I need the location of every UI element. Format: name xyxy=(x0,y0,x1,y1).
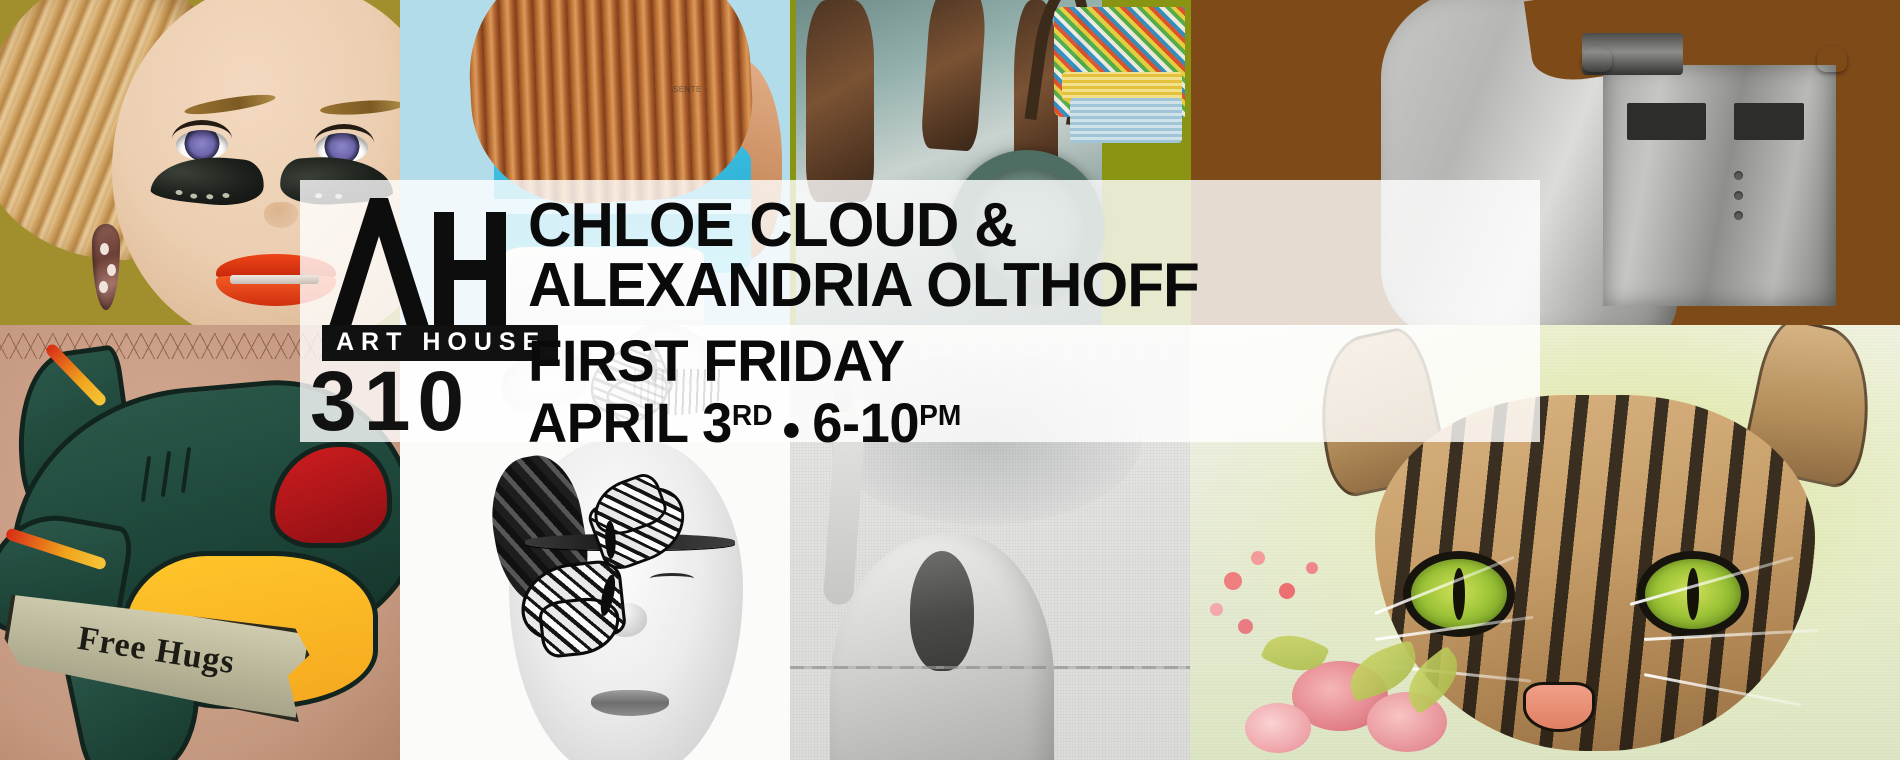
free-hugs-banner-text: Free Hugs xyxy=(75,620,238,682)
event-time-meridiem: PM xyxy=(919,402,961,431)
portrait-nose xyxy=(264,202,298,228)
clamp-slot-left xyxy=(1627,103,1706,139)
cat-eye-right xyxy=(1637,551,1749,637)
event-info-overlay: ART HOUSE 310 CHLOE CLOUD & ALEXANDRIA O… xyxy=(300,180,1540,442)
clamp-bolt-right xyxy=(1817,46,1847,72)
figure-head xyxy=(910,551,974,671)
street-number: 310 xyxy=(310,366,471,437)
event-name: FIRST FRIDAY xyxy=(528,333,1510,391)
event-month-day: APRIL 3 xyxy=(528,395,732,451)
separator-dot-icon xyxy=(784,423,799,438)
event-time-range: 6-10 xyxy=(812,395,919,451)
event-day-suffix: RD xyxy=(732,402,773,431)
cat-floral-border xyxy=(1190,499,1531,760)
artist-names-line-1: CHLOE CLOUD & xyxy=(528,196,1510,256)
cat-pupil-right xyxy=(1687,568,1699,620)
art-house-ah-logo-icon xyxy=(326,198,512,336)
portrait-earring xyxy=(92,224,120,310)
event-text-column: CHLOE CLOUD & ALEXANDRIA OLTHOFF FIRST F… xyxy=(528,180,1540,442)
event-date-time: APRIL 3RD 6-10PM xyxy=(528,395,1510,451)
clamp-bolt-left xyxy=(1582,46,1612,72)
assemblage-knit-yellow xyxy=(1062,72,1182,101)
sculpture-clamp xyxy=(1603,65,1836,306)
clamp-slot-right xyxy=(1734,103,1804,139)
event-banner: SENTE xyxy=(0,0,1900,760)
clamp-holes xyxy=(1734,171,1743,231)
shirt-print-text: SENTE xyxy=(673,85,767,137)
assemblage-rust-a xyxy=(806,0,874,202)
assemblage-rust-b xyxy=(920,0,987,151)
portrait-teeth xyxy=(230,275,319,284)
horizon-line xyxy=(790,666,1190,669)
frida-eyelid-right xyxy=(650,573,694,584)
cat-nose xyxy=(1523,682,1595,732)
artist-names-line-2: ALEXANDRIA OLTHOFF xyxy=(528,256,1510,316)
assemblage-knit-blue xyxy=(1070,98,1182,144)
venue-logo-column: ART HOUSE 310 xyxy=(300,180,528,442)
